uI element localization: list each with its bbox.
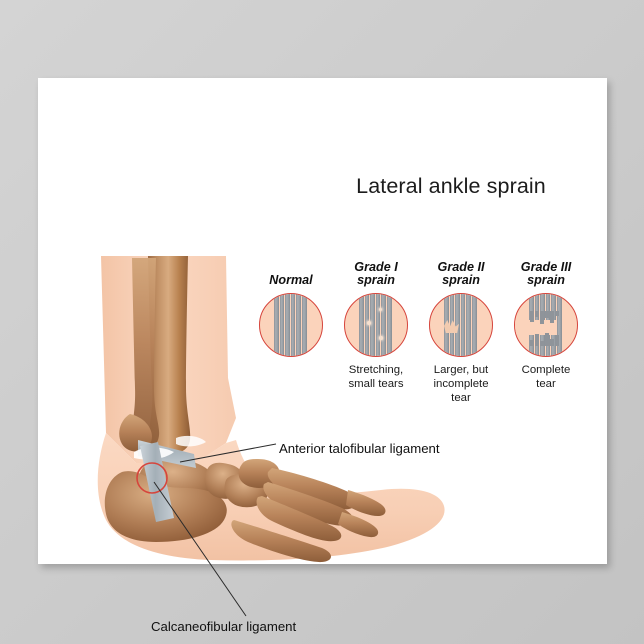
- screenshot-root: Lateral ankle sprain: [0, 0, 644, 644]
- severity-circle-normal: [259, 293, 323, 357]
- severity-caption-grade-3: Complete tear: [497, 363, 595, 391]
- severity-item-normal: Normal: [248, 293, 334, 357]
- label-calcaneofibular-ligament: Calcaneofibular ligament: [151, 619, 296, 634]
- severity-label-grade-3: Grade III sprain: [503, 261, 589, 293]
- severity-label-grade-2: Grade II sprain: [418, 261, 504, 293]
- severity-label-grade-1: Grade I sprain: [333, 261, 419, 293]
- label-anterior-talofibular-ligament: Anterior talofibular ligament: [279, 441, 440, 456]
- page-title: Lateral ankle sprain: [281, 174, 621, 199]
- severity-caption-grade-1: Stretching, small tears: [327, 363, 425, 391]
- severity-circle-grade-3: [514, 293, 578, 357]
- severity-label-normal: Normal: [248, 274, 334, 293]
- fray-lower: [528, 333, 564, 346]
- micro-tear-speck: [367, 321, 371, 325]
- micro-tear-speck: [379, 336, 383, 340]
- poster-sheet: Lateral ankle sprain: [38, 78, 607, 564]
- severity-circle-grade-1: [344, 293, 408, 357]
- severity-item-grade-2: Grade II sprain Larger, but incomplete t…: [418, 293, 504, 357]
- severity-item-grade-3: Grade III sprain: [503, 293, 589, 357]
- severity-circle-grade-2: [429, 293, 493, 357]
- ligament-fibers-intact: [274, 293, 308, 357]
- fray-upper: [528, 311, 564, 324]
- ligament-fibers-micro-tears: [359, 293, 393, 357]
- severity-caption-grade-2: Larger, but incomplete tear: [412, 363, 510, 405]
- severity-item-grade-1: Grade I sprain Stretching, small tears: [333, 293, 419, 357]
